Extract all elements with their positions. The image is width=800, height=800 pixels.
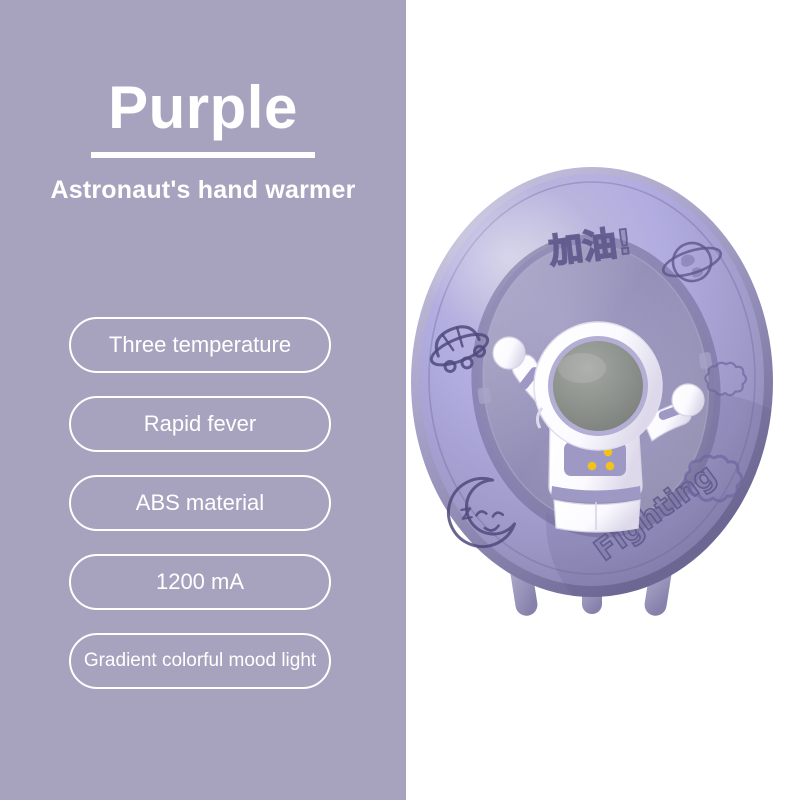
helmet-visor [553, 341, 643, 431]
product-subtitle: Astronaut's hand warmer [0, 176, 406, 205]
astronaut-lower-body [554, 500, 640, 532]
feature-label: Rapid fever [144, 411, 257, 437]
feature-pill-battery-capacity: 1200 mA [69, 554, 331, 610]
feature-label: 1200 mA [156, 569, 244, 595]
left-info-panel: Purple Astronaut's hand warmer Three tem… [0, 0, 406, 800]
feature-pill-three-temperature: Three temperature [69, 317, 331, 373]
chest-button-2 [588, 462, 597, 471]
feature-label: ABS material [136, 490, 264, 516]
feature-pill-mood-light: Gradient colorful mood light [69, 633, 331, 689]
title-divider [91, 152, 315, 158]
feature-label: Three temperature [109, 332, 291, 358]
hand-left [493, 337, 525, 369]
feature-pill-rapid-fever: Rapid fever [69, 396, 331, 452]
feature-pill-abs-material: ABS material [69, 475, 331, 531]
feature-label: Gradient colorful mood light [84, 650, 316, 672]
product-marketing-image: Purple Astronaut's hand warmer Three tem… [0, 0, 800, 800]
feature-list: Three temperature Rapid fever ABS materi… [69, 317, 331, 712]
cover-latch-left [477, 387, 491, 405]
visor-reflection [558, 353, 606, 383]
hand-right [672, 384, 704, 416]
product-image-area: 加油! Fighting [406, 0, 800, 800]
page-title: Purple [0, 76, 406, 139]
product-illustration: 加油! Fighting [396, 150, 796, 670]
title-block: Purple Astronaut's hand warmer [0, 76, 406, 205]
chest-button-3 [606, 462, 615, 471]
